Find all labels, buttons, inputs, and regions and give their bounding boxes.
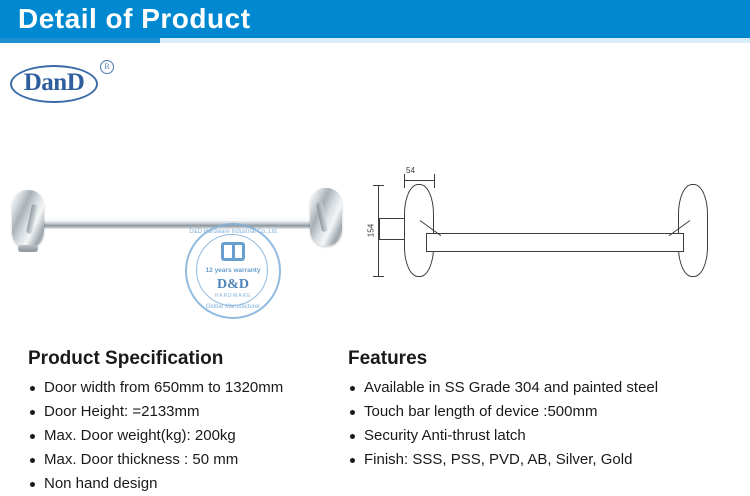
- list-item: Door width from 650mm to 1320mm: [28, 376, 348, 400]
- header-underline-accent: [0, 38, 160, 43]
- list-item: Max. Door thickness : 50 mm: [28, 448, 348, 472]
- list-item: Touch bar length of device :500mm: [348, 400, 748, 424]
- end-cap-slot: [26, 204, 38, 235]
- end-cap-base: [18, 245, 38, 252]
- technical-drawing: 54 154: [360, 160, 750, 335]
- list-item: Non hand design: [28, 472, 348, 496]
- brand-logo: DanD R: [10, 60, 140, 110]
- end-cap-left: [12, 190, 44, 248]
- dimension-tick-height-top: [373, 185, 384, 186]
- drawing-end-cap-left: [404, 184, 434, 277]
- list-item: Available in SS Grade 304 and painted st…: [348, 376, 748, 400]
- dimension-label-height: 154: [367, 216, 376, 246]
- dimension-line-width: [404, 180, 435, 181]
- watermark-brand-text: D&D: [187, 277, 279, 293]
- watermark-brand-sub-text: HARDWARE: [187, 293, 279, 299]
- list-item: Door Height: =2133mm: [28, 400, 348, 424]
- logo-text: DanD: [10, 65, 98, 103]
- features-list: Available in SS Grade 304 and painted st…: [348, 376, 748, 472]
- extension-line-width-left: [404, 180, 405, 188]
- list-item: Max. Door weight(kg): 200kg: [28, 424, 348, 448]
- product-photo: D&D Hardware Industrial Co.,Ltd 12 years…: [0, 160, 360, 335]
- end-cap-right: [310, 188, 342, 246]
- list-item: Security Anti-thrust latch: [348, 424, 748, 448]
- features-heading: Features: [348, 348, 748, 370]
- dimension-tick-height-bottom: [373, 276, 384, 277]
- watermark-warranty-text: 12 years warranty: [187, 267, 279, 274]
- drawing-end-cap-right: [678, 184, 708, 277]
- extension-line-width-right: [434, 180, 435, 188]
- watermark-logo-icon: [221, 242, 245, 261]
- product-specification-section: Product Specification Door width from 65…: [28, 348, 348, 496]
- drawing-latch-block: [379, 218, 405, 240]
- dimension-label-width: 54: [406, 166, 415, 175]
- watermark-company-text: D&D Hardware Industrial Co.,Ltd: [187, 229, 279, 235]
- list-item: Finish: SSS, PSS, PVD, AB, Silver, Gold: [348, 448, 748, 472]
- watermark-tagline-text: Global Manufacturer: [187, 304, 279, 310]
- end-cap-slot: [316, 202, 328, 233]
- page-title: Detail of Product: [18, 3, 251, 35]
- registered-trademark-icon: R: [100, 60, 114, 74]
- watermark-stamp: D&D Hardware Industrial Co.,Ltd 12 years…: [185, 223, 281, 319]
- specification-heading: Product Specification: [28, 348, 348, 370]
- features-section: Features Available in SS Grade 304 and p…: [348, 348, 748, 472]
- specification-list: Door width from 650mm to 1320mm Door Hei…: [28, 376, 348, 496]
- push-bar-rod: [40, 218, 318, 229]
- drawing-push-bar-rod: [426, 233, 684, 252]
